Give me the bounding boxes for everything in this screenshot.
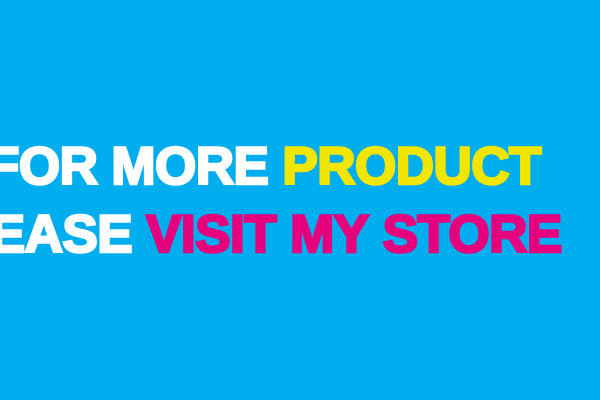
headline-word-store: STORE xyxy=(383,205,562,264)
headline-word-please: PLEASE xyxy=(0,205,132,264)
headline-word-my: MY xyxy=(290,205,369,264)
headline-line-2: PLEASEVISITMYSTORE xyxy=(0,208,562,261)
headline-word-more: MORE xyxy=(111,137,268,196)
headline-block: FORMOREPRODUCT PLEASEVISITMYSTORE xyxy=(0,0,600,400)
headline-word-visit: VISIT xyxy=(146,205,276,264)
promo-banner: FORMOREPRODUCT PLEASEVISITMYSTORE xyxy=(0,0,600,400)
headline-word-for: FOR xyxy=(0,137,97,196)
headline-word-product: PRODUCT xyxy=(282,137,541,196)
headline-line-1: FORMOREPRODUCT xyxy=(0,140,541,193)
